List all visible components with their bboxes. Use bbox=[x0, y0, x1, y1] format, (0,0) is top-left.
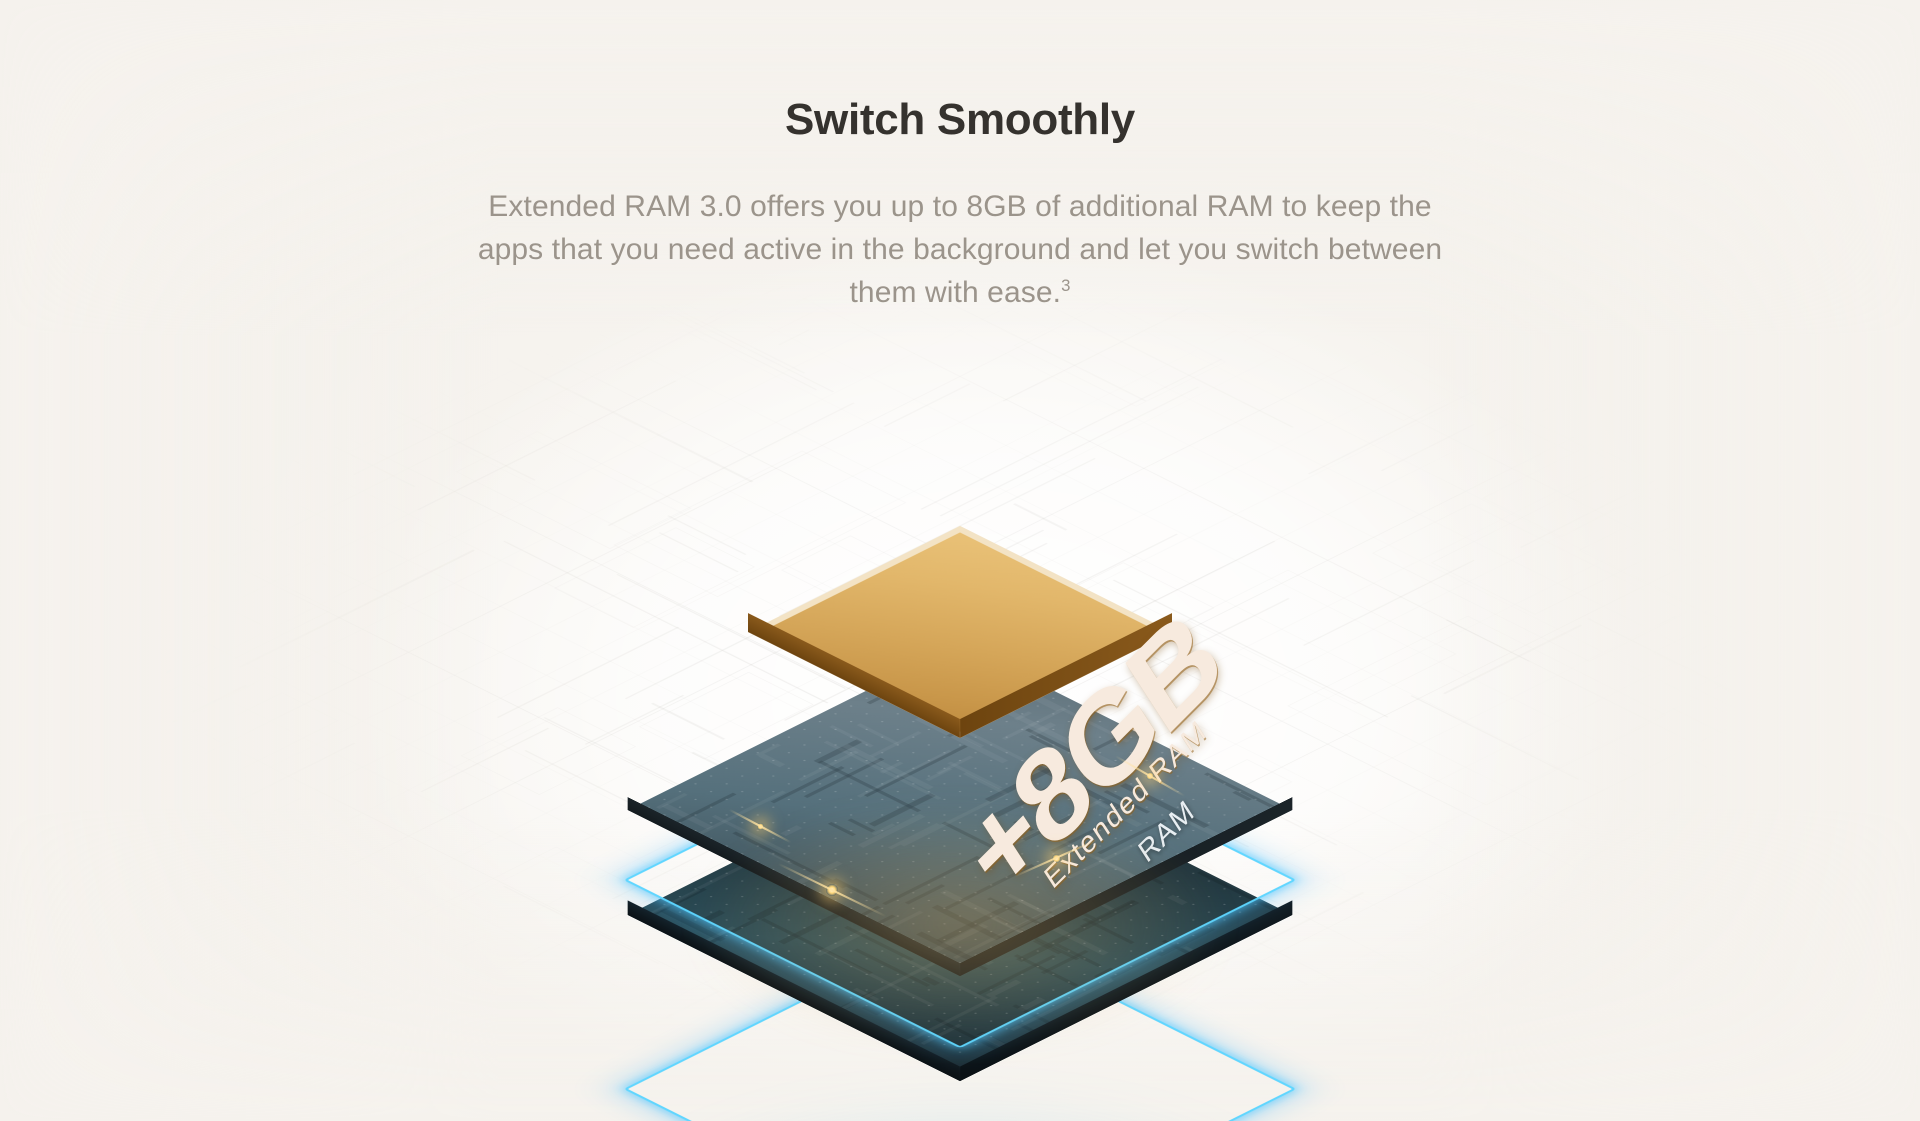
page-description: Extended RAM 3.0 offers you up to 8GB of… bbox=[460, 186, 1460, 314]
page-title: Switch Smoothly bbox=[0, 96, 1920, 144]
description-line-1: Extended RAM 3.0 offers you up to 8GB of… bbox=[488, 190, 1307, 223]
chip-stack-illustration: RAM +8GB Extended RAM bbox=[460, 390, 1460, 1090]
chip-layer-extended-ram bbox=[810, 482, 1110, 782]
footnote-marker: 3 bbox=[1061, 276, 1070, 295]
hero-text-block: Switch Smoothly Extended RAM 3.0 offers … bbox=[0, 96, 1920, 314]
gold-chip-top-face bbox=[748, 526, 1172, 738]
gold-chip-plate bbox=[748, 526, 1172, 738]
